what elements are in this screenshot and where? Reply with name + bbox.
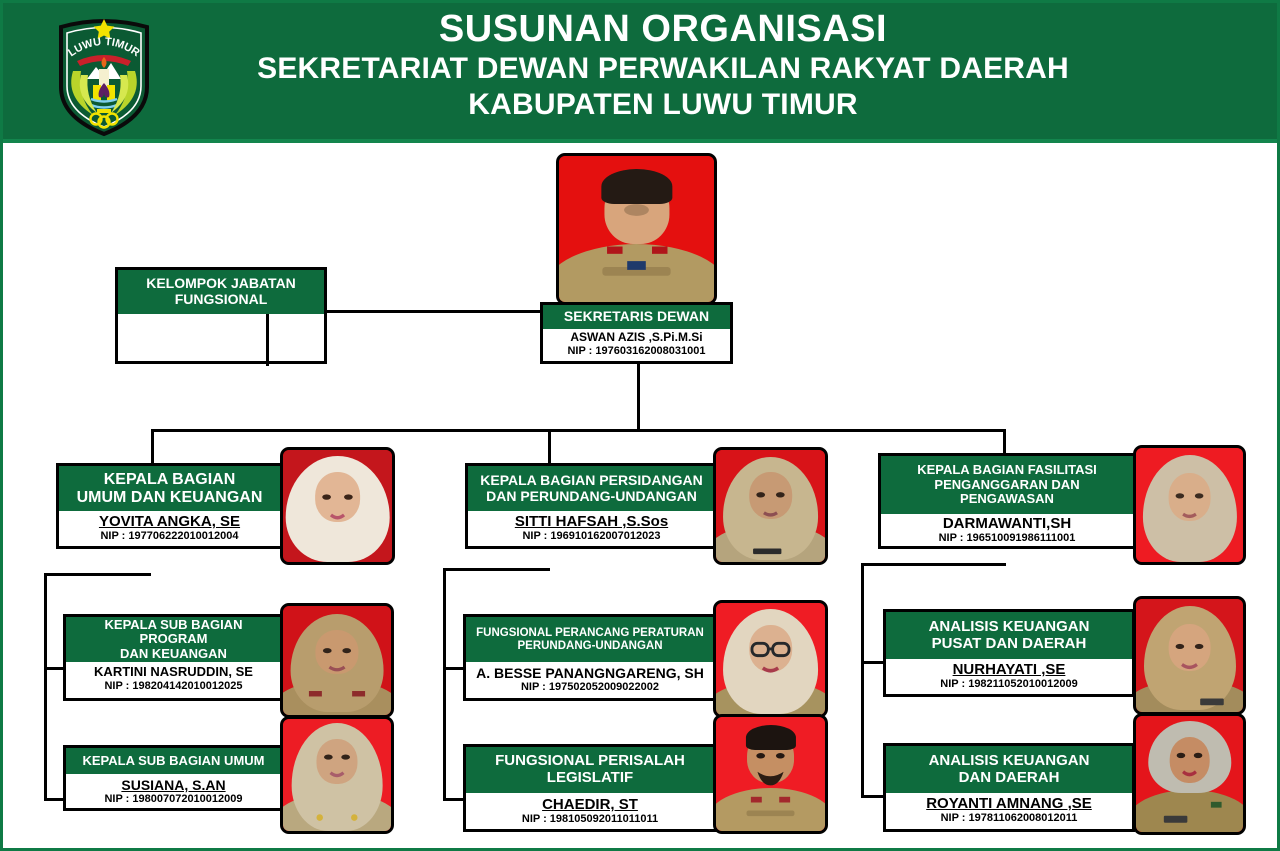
photo-fungsional-perancang	[713, 600, 828, 718]
person-name-kabag-fasilitasi: DARMAWANTI,SH	[884, 515, 1130, 532]
page-title-line-2: SEKRETARIAT DEWAN PERWAKILAN RAKYAT DAER…	[163, 51, 1163, 87]
photo-inner	[283, 719, 391, 831]
photo-inner	[716, 603, 825, 715]
node-title-kelompok-jabatan-fungsional: KELOMPOK JABATAN FUNGSIONAL	[118, 270, 324, 314]
title-line-1: KEPALA SUB BAGIAN PROGRAM	[69, 618, 278, 647]
connector-sekretaris-to-kjf	[327, 310, 549, 313]
photo-sekretaris-dewan	[556, 153, 717, 305]
node-kasubag-program-keuangan[interactable]: KEPALA SUB BAGIAN PROGRAM DAN KEUANGAN K…	[63, 614, 284, 701]
title-line-1: KEPALA BAGIAN FASILITASI	[917, 463, 1097, 478]
title-line-2: DAN PERUNDANG-UNDANGAN	[486, 489, 697, 505]
node-title-kasubag-program-keuangan: KEPALA SUB BAGIAN PROGRAM DAN KEUANGAN	[66, 617, 281, 662]
node-title-kasubag-umum: KEPALA SUB BAGIAN UMUM	[66, 748, 281, 774]
node-sekretaris-dewan[interactable]: SEKRETARIS DEWAN ASWAN AZIS ,S.Pi.M.Si N…	[540, 302, 733, 364]
node-title-fungsional-perancang-peraturan: FUNGSIONAL PERANCANG PERATURAN PERUNDANG…	[466, 617, 714, 662]
photo-kasubag-program-keuangan	[280, 603, 394, 718]
connector-center-branch-top	[443, 568, 550, 571]
node-title-analisis-keuangan-pusat-daerah: ANALISIS KEUANGAN PUSAT DAN DAERAH	[886, 612, 1132, 659]
title-line-1: FUNGSIONAL PERANCANG PERATURAN	[476, 627, 704, 640]
connector-left-branch-top	[44, 573, 151, 576]
node-kasubag-umum[interactable]: KEPALA SUB BAGIAN UMUM SUSIANA, S.AN NIP…	[63, 745, 284, 811]
kjf-title-line-1: KELOMPOK JABATAN	[146, 276, 296, 292]
node-kabag-umum-keuangan[interactable]: KEPALA BAGIAN UMUM DAN KEUANGAN YOVITA A…	[56, 463, 283, 549]
person-name-kabag-persidangan: SITTI HAFSAH ,S.Sos	[471, 513, 712, 530]
connector-right-branch-top	[861, 563, 1006, 566]
node-title-analisis-keuangan-dan-daerah: ANALISIS KEUANGAN DAN DAERAH	[886, 746, 1132, 793]
person-nip-kasubag-umum: NIP : 198007072010012009	[69, 793, 278, 806]
kjf-empty-cell-left	[118, 314, 269, 366]
connector-right-stub-2	[861, 795, 885, 798]
node-title-sekretaris-dewan: SEKRETARIS DEWAN	[543, 305, 730, 329]
person-nip-analisis-keuangan-pusat: NIP : 198211052010012009	[889, 678, 1129, 691]
node-title-kabag-persidangan-perundang: KEPALA BAGIAN PERSIDANGAN DAN PERUNDANG-…	[468, 466, 715, 511]
person-nip-fungsional-perancang: NIP : 197502052009022002	[469, 681, 711, 694]
person-name-fungsional-perisalah: CHAEDIR, ST	[469, 796, 711, 813]
title-line-2: PENGANGGARAN DAN	[934, 478, 1079, 493]
title-line-3: PENGAWASAN	[960, 492, 1054, 507]
title-line-2: DAN KEUANGAN	[120, 647, 227, 662]
node-kelompok-jabatan-fungsional[interactable]: KELOMPOK JABATAN FUNGSIONAL	[115, 267, 327, 364]
luwu-timur-crest-logo: LUWU TIMUR	[51, 13, 157, 137]
photo-inner	[1136, 448, 1243, 562]
title-line-1: KEPALA BAGIAN PERSIDANGAN	[480, 473, 702, 489]
chart-body: SEKRETARIS DEWAN ASWAN AZIS ,S.Pi.M.Si N…	[3, 143, 1277, 851]
photo-inner	[716, 450, 825, 562]
person-name-sekretaris-dewan: ASWAN AZIS ,S.Pi.M.Si	[546, 331, 727, 345]
node-body: ROYANTI AMNANG ,SE NIP : 197811062008012…	[886, 793, 1132, 829]
node-title-kabag-fasilitasi-penganggaran: KEPALA BAGIAN FASILITASI PENGANGGARAN DA…	[881, 456, 1133, 514]
connector-right-stub-1	[861, 661, 885, 664]
kjf-empty-body	[118, 314, 324, 366]
kjf-empty-cell-right	[269, 314, 324, 366]
node-title-fungsional-perisalah-legislatif: FUNGSIONAL PERISALAH LEGISLATIF	[466, 747, 714, 793]
node-fungsional-perisalah-legislatif[interactable]: FUNGSIONAL PERISALAH LEGISLATIF CHAEDIR,…	[463, 744, 717, 832]
photo-fungsional-perisalah	[713, 714, 828, 834]
photo-inner	[716, 717, 825, 831]
photo-inner	[283, 450, 392, 562]
person-nip-kabag-fasilitasi: NIP : 196510091986111001	[884, 532, 1130, 545]
title-line-2: DAN DAERAH	[959, 770, 1060, 787]
photo-inner	[283, 606, 391, 715]
page-title-line-3: KABUPATEN LUWU TIMUR	[163, 87, 1163, 123]
person-nip-sekretaris-dewan: NIP : 197603162008031001	[546, 345, 727, 358]
photo-kabag-umum-keuangan	[280, 447, 395, 565]
node-body: KARTINI NASRUDDIN, SE NIP : 198204142010…	[66, 662, 281, 698]
node-analisis-keuangan-pusat-daerah[interactable]: ANALISIS KEUANGAN PUSAT DAN DAERAH NURHA…	[883, 609, 1135, 697]
page-title-line-1: SUSUNAN ORGANISASI	[163, 7, 1163, 51]
photo-kasubag-umum	[280, 716, 394, 834]
person-name-analisis-keuangan-pusat: NURHAYATI ,SE	[889, 661, 1129, 678]
title-line-1: KEPALA BAGIAN	[104, 471, 236, 489]
connector-center-branch-vertical	[443, 568, 446, 801]
node-body: YOVITA ANGKA, SE NIP : 19770622201001200…	[59, 511, 280, 546]
node-body: SITTI HAFSAH ,S.Sos NIP : 19691016200701…	[468, 511, 715, 546]
connector-sekretaris-down	[637, 361, 640, 431]
person-name-kasubag-program-keuangan: KARTINI NASRUDDIN, SE	[69, 665, 278, 680]
photo-kabag-persidangan	[713, 447, 828, 565]
connector-center-stub-1	[443, 667, 465, 670]
organization-chart-page: LUWU TIMUR SUSUNAN ORGA	[0, 0, 1280, 851]
connector-left-branch-vertical	[44, 573, 47, 801]
kjf-title-line-2: FUNGSIONAL	[175, 292, 268, 308]
node-fungsional-perancang-peraturan[interactable]: FUNGSIONAL PERANCANG PERATURAN PERUNDANG…	[463, 614, 717, 701]
photo-analisis-keuangan-daerah	[1133, 713, 1246, 835]
person-nip-kasubag-program-keuangan: NIP : 198204142010012025	[69, 680, 278, 693]
photo-inner	[1136, 716, 1243, 832]
node-body: DARMAWANTI,SH NIP : 196510091986111001	[881, 514, 1133, 546]
connector-right-branch-vertical	[861, 563, 864, 798]
person-name-analisis-keuangan-daerah: ROYANTI AMNANG ,SE	[889, 795, 1129, 812]
person-nip-fungsional-perisalah: NIP : 198105092011011011	[469, 813, 711, 826]
title-line-2: UMUM DAN KEUANGAN	[77, 489, 263, 507]
person-name-kabag-umum-keuangan: YOVITA ANGKA, SE	[62, 513, 277, 530]
node-kabag-fasilitasi-penganggaran[interactable]: KEPALA BAGIAN FASILITASI PENGANGGARAN DA…	[878, 453, 1136, 549]
title-line-2: PUSAT DAN DAERAH	[932, 636, 1087, 653]
page-header: LUWU TIMUR SUSUNAN ORGA	[3, 3, 1280, 143]
node-body: ASWAN AZIS ,S.Pi.M.Si NIP : 197603162008…	[543, 329, 730, 361]
node-title-kabag-umum-keuangan: KEPALA BAGIAN UMUM DAN KEUANGAN	[59, 466, 280, 511]
person-name-kasubag-umum: SUSIANA, S.AN	[69, 777, 278, 793]
title-line-2: PERUNDANG-UNDANGAN	[517, 640, 662, 653]
node-body: NURHAYATI ,SE NIP : 198211052010012009	[886, 659, 1132, 694]
node-body: CHAEDIR, ST NIP : 198105092011011011	[466, 793, 714, 829]
person-nip-kabag-persidangan: NIP : 196910162007012023	[471, 530, 712, 543]
node-kabag-persidangan-perundang[interactable]: KEPALA BAGIAN PERSIDANGAN DAN PERUNDANG-…	[465, 463, 718, 549]
photo-inner	[1136, 599, 1243, 712]
header-title-group: SUSUNAN ORGANISASI SEKRETARIAT DEWAN PER…	[163, 7, 1163, 123]
photo-inner	[559, 156, 714, 302]
title-line-1: ANALISIS KEUANGAN	[929, 753, 1090, 770]
node-body: SUSIANA, S.AN NIP : 198007072010012009	[66, 774, 281, 808]
photo-kabag-fasilitasi	[1133, 445, 1246, 565]
title-line-1: ANALISIS KEUANGAN	[929, 619, 1090, 636]
title-line-2: LEGISLATIF	[547, 770, 633, 787]
node-body: A. BESSE PANANGNGARENG, SH NIP : 1975020…	[466, 662, 714, 698]
person-nip-analisis-keuangan-daerah: NIP : 197811062008012011	[889, 812, 1129, 825]
person-nip-kabag-umum-keuangan: NIP : 197706222010012004	[62, 530, 277, 543]
node-analisis-keuangan-dan-daerah[interactable]: ANALISIS KEUANGAN DAN DAERAH ROYANTI AMN…	[883, 743, 1135, 832]
title-line-1: FUNGSIONAL PERISALAH	[495, 753, 685, 770]
connector-level2-bus	[151, 429, 1006, 432]
connector-center-stub-2	[443, 798, 465, 801]
person-name-fungsional-perancang: A. BESSE PANANGNGARENG, SH	[469, 665, 711, 681]
photo-analisis-keuangan-pusat	[1133, 596, 1246, 715]
